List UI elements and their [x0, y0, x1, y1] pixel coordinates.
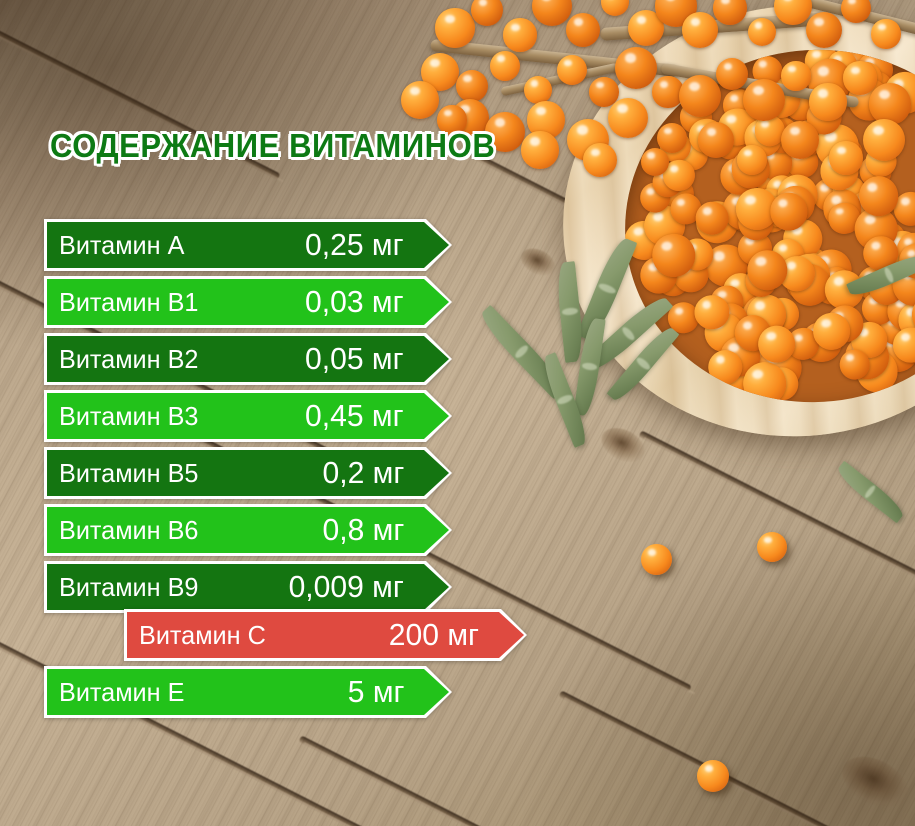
infographic-canvas: СОДЕРЖАНИЕ ВИТАМИНОВ Витамин А0,25 мгВит… [0, 0, 915, 826]
bar-row-vitamin-b6: Витамин В60,8 мг [44, 504, 452, 556]
bar-value: 0,009 мг [289, 569, 404, 605]
bar-label: Витамин В2 [59, 344, 198, 375]
bar-value: 0,2 мг [322, 455, 404, 491]
bar-label: Витамин В5 [59, 458, 198, 489]
bar-row-vitamin-a: Витамин А0,25 мг [44, 219, 452, 271]
bar-value: 5 мг [347, 674, 404, 710]
bar-value: 200 мг [389, 617, 479, 653]
bar-row-vitamin-b5: Витамин В50,2 мг [44, 447, 452, 499]
vitamin-bar-chart: Витамин А0,25 мгВитамин В10,03 мгВитамин… [0, 0, 915, 826]
bar-value: 0,45 мг [305, 398, 404, 434]
bar-row-vitamin-b1: Витамин В10,03 мг [44, 276, 452, 328]
bar-label: Витамин А [59, 230, 184, 261]
bar-row-vitamin-b3: Витамин В30,45 мг [44, 390, 452, 442]
bar-value: 0,25 мг [305, 227, 404, 263]
bar-value: 0,03 мг [305, 284, 404, 320]
bar-row-vitamin-c: Витамин С200 мг [124, 609, 527, 661]
bar-label: Витамин В3 [59, 401, 198, 432]
bar-label: Витамин С [139, 620, 266, 651]
bar-label: Витамин В9 [59, 572, 198, 603]
bar-label: Витамин В1 [59, 287, 198, 318]
bar-label: Витамин В6 [59, 515, 198, 546]
bar-row-vitamin-b9: Витамин В90,009 мг [44, 561, 452, 613]
bar-label: Витамин Е [59, 677, 184, 708]
bar-row-vitamin-b2: Витамин В20,05 мг [44, 333, 452, 385]
bar-value: 0,05 мг [305, 341, 404, 377]
bar-row-vitamin-e: Витамин Е5 мг [44, 666, 452, 718]
bar-value: 0,8 мг [322, 512, 404, 548]
